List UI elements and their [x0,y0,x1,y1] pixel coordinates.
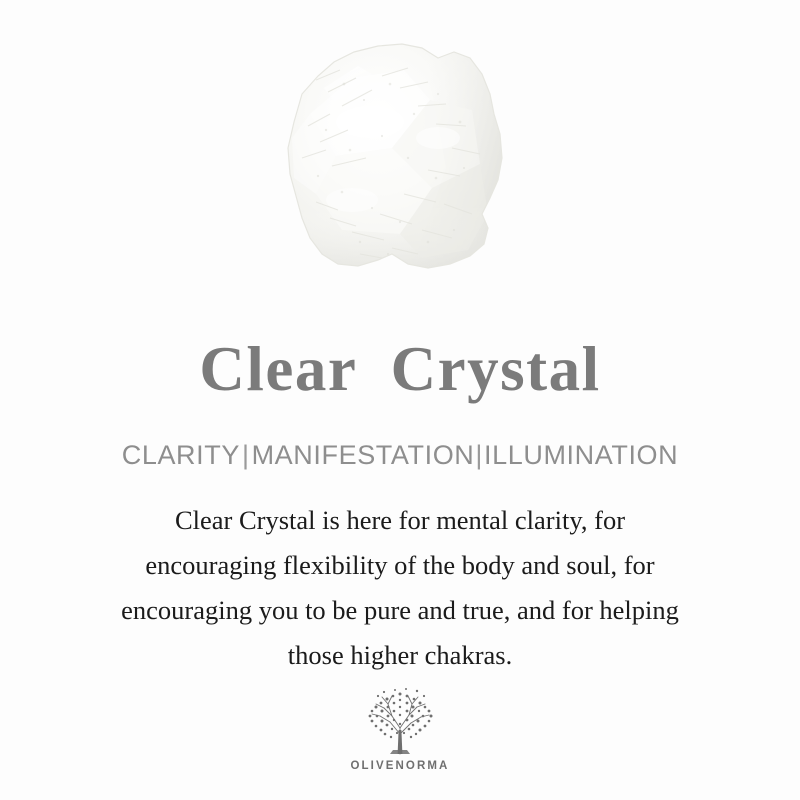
keyword-clarity: CLARITY [122,440,240,470]
brand-logo: OLIVENORMA [0,684,800,772]
crystal-highlight-3 [416,127,460,149]
brand-name: OLIVENORMA [351,760,450,772]
keyword-manifestation: MANIFESTATION [252,440,475,470]
keyword-separator-1: | [240,440,252,470]
description-line: those higher chakras. [50,633,750,678]
keyword-illumination: ILLUMINATION [484,440,678,470]
tree-base [390,750,410,754]
description-line: encouraging you to be pure and true, and… [50,588,750,633]
crystal-highlight-2 [336,106,404,138]
description-line: encouraging flexibility of the body and … [50,543,750,588]
product-image-area [0,0,800,320]
keyword-list: CLARITY|MANIFESTATION|ILLUMINATION [0,441,800,471]
tree-icon [354,684,446,758]
clear-crystal-image [232,18,532,308]
keyword-separator-2: | [474,440,484,470]
product-card: Clear Crystal CLARITY|MANIFESTATION|ILLU… [0,0,800,800]
description-line: Clear Crystal is here for mental clarity… [50,498,750,543]
product-description: Clear Crystal is here for mental clarity… [50,498,750,678]
page-title: Clear Crystal [0,338,800,401]
